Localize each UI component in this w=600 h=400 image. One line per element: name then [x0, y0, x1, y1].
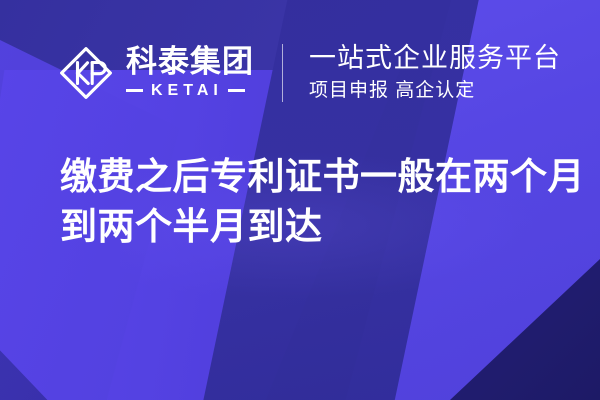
ketai-diamond-kd-logo-icon [58, 45, 114, 101]
logo-company-name-cn: 科泰集团 [126, 46, 254, 78]
logo-lockup: 科泰集团 KETAI [58, 45, 254, 101]
brand-header: 科泰集团 KETAI 一站式企业服务平台 项目申报 高企认定 [58, 38, 561, 108]
headline-block: 缴费之后专利证书一般在两个月 到两个半月到达 [60, 152, 560, 252]
headline-line-2: 到两个半月到达 [60, 202, 560, 252]
logo-english-row: KETAI [126, 82, 254, 100]
headline-line-1: 缴费之后专利证书一般在两个月 [60, 152, 560, 202]
tagline-block: 一站式企业服务平台 项目申报 高企认定 [309, 43, 561, 104]
logo-dash-right-icon [228, 89, 245, 92]
header-vertical-divider [282, 44, 283, 102]
logo-dash-left-icon [126, 89, 143, 92]
tagline-secondary: 项目申报 高企认定 [309, 79, 561, 104]
logo-wordmark: 科泰集团 KETAI [126, 46, 254, 99]
tagline-primary: 一站式企业服务平台 [309, 43, 561, 74]
promo-banner: 科泰集团 KETAI 一站式企业服务平台 项目申报 高企认定 缴费之后专利证书一… [0, 0, 600, 400]
logo-company-name-en: KETAI [143, 82, 228, 100]
